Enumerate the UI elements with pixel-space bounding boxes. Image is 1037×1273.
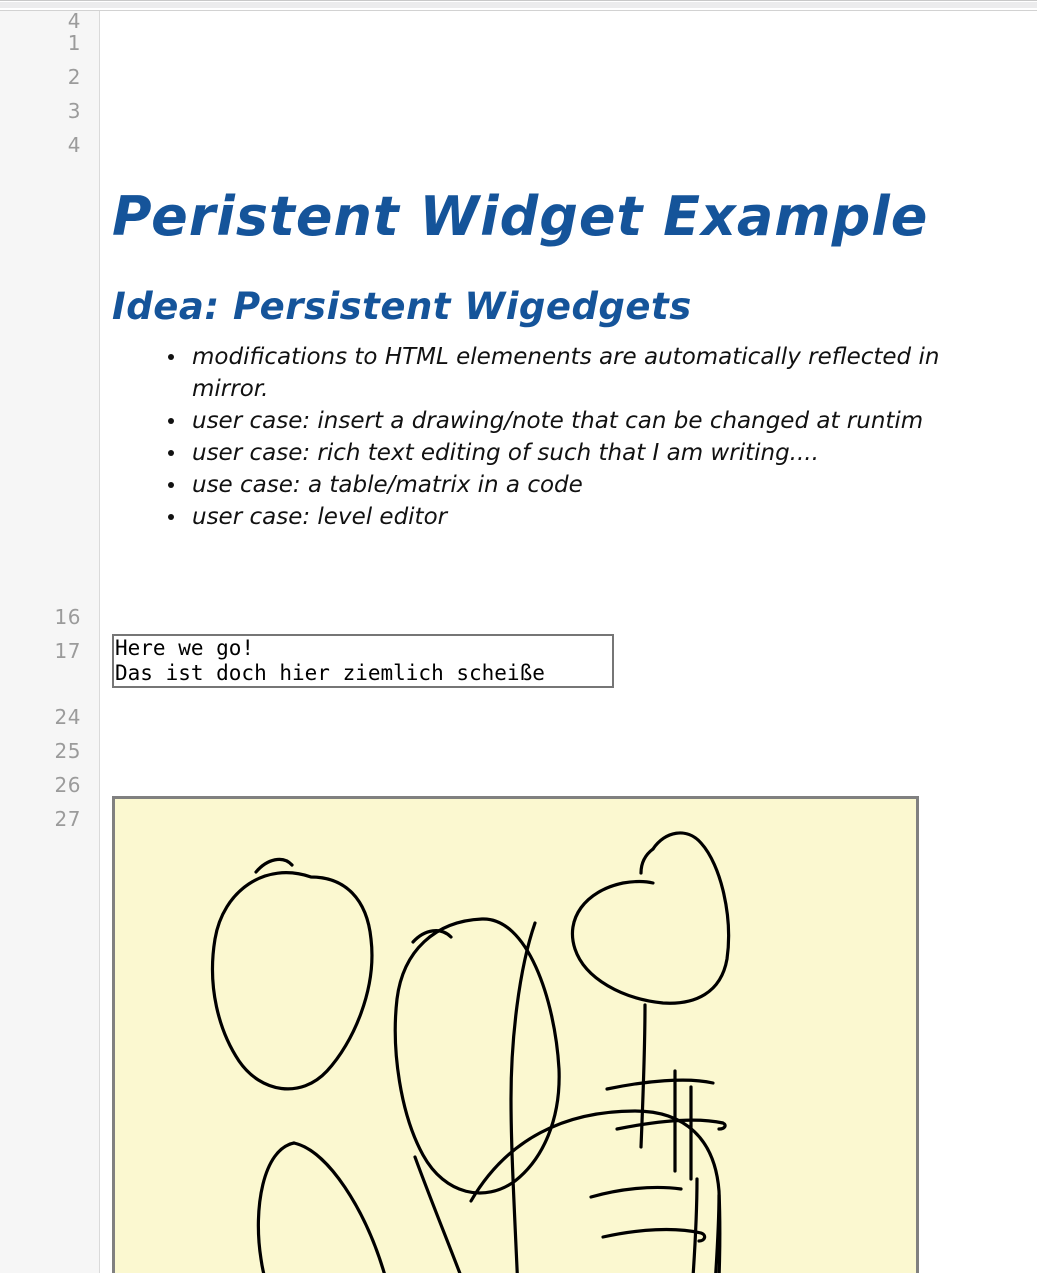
list-item: user case: insert a drawing/note that ca… <box>101 405 1037 437</box>
line-number: 16 <box>21 607 81 627</box>
bullet-dot-icon <box>168 418 174 424</box>
line-number: 4 <box>21 11 81 31</box>
bullet-list: modifications to HTML elemenents are aut… <box>101 341 1037 533</box>
line-number: 17 <box>21 641 81 661</box>
section-heading: Idea: Persistent Wigedgets <box>112 285 692 328</box>
list-item: modifications to HTML elemenents are aut… <box>101 341 1037 405</box>
list-item: user case: level editor <box>101 501 1037 533</box>
sketch-ink-layer[interactable] <box>115 799 916 1273</box>
line-number: 26 <box>21 775 81 795</box>
line-number: 2 <box>21 67 81 87</box>
line-number: 1 <box>21 33 81 53</box>
list-item-text: user case: rich text editing of such tha… <box>192 437 1037 469</box>
line-number: 27 <box>21 809 81 829</box>
list-item-text: user case: level editor <box>192 501 1037 533</box>
list-item-text: modifications to HTML elemenents are aut… <box>192 341 1037 373</box>
drawing-canvas-widget[interactable] <box>112 796 919 1273</box>
editor-area: 1 2 3 4 4 16 17 24 25 26 27 Peristent Wi… <box>0 11 1037 1273</box>
text-input-line[interactable]: Das ist doch hier ziemlich scheiße <box>114 661 612 686</box>
bullet-dot-icon <box>168 450 174 456</box>
bullet-dot-icon <box>168 482 174 488</box>
line-number: 3 <box>21 101 81 121</box>
line-number: 25 <box>21 741 81 761</box>
text-input-line[interactable]: Here we go! <box>114 636 612 661</box>
bullet-dot-icon <box>168 354 174 360</box>
page-title: Peristent Widget Example <box>112 185 928 248</box>
list-item: use case: a table/matrix in a code <box>101 469 1037 501</box>
rendered-document-pane[interactable]: Peristent Widget Example Idea: Persisten… <box>101 11 1037 1273</box>
list-item: user case: rich text editing of such tha… <box>101 437 1037 469</box>
horizontal-scrollbar-strip[interactable] <box>0 0 1037 11</box>
list-item-text: user case: insert a drawing/note that ca… <box>192 405 1037 437</box>
list-item-text: use case: a table/matrix in a code <box>192 469 1037 501</box>
line-number: 24 <box>21 707 81 727</box>
bullet-dot-icon <box>168 514 174 520</box>
line-number-gutter: 1 2 3 4 4 16 17 24 25 26 27 <box>0 11 100 1273</box>
text-input-widget[interactable]: Here we go! Das ist doch hier ziemlich s… <box>112 634 614 688</box>
line-number: 4 <box>21 135 81 155</box>
list-item-text-continuation: mirror. <box>192 373 1037 405</box>
scrollbar-track[interactable] <box>0 2 1037 8</box>
